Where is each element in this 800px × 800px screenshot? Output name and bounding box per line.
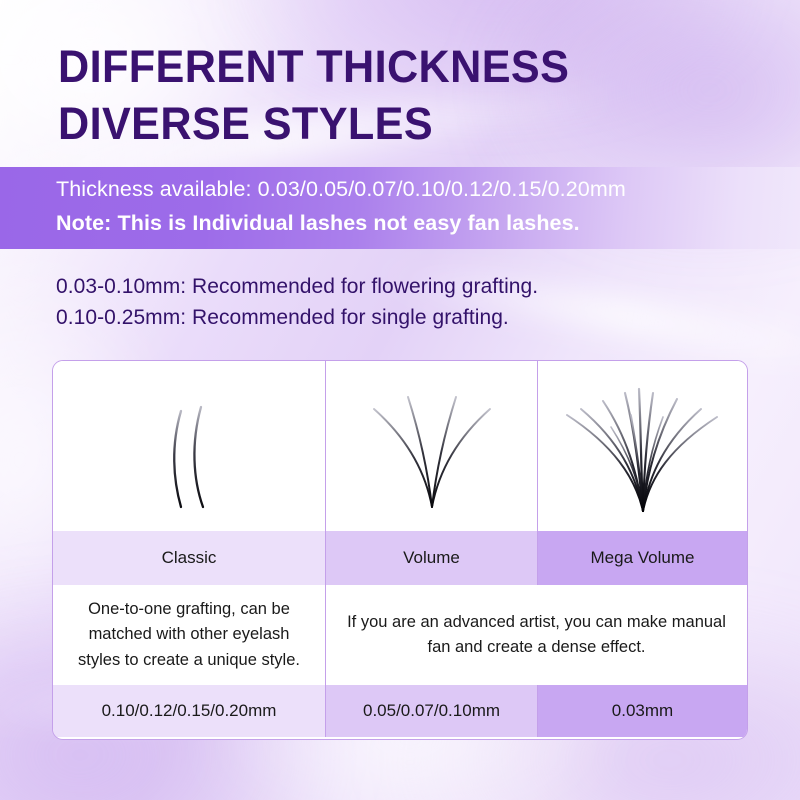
label-cell-classic: Classic [53, 531, 326, 585]
table-row-descriptions: One-to-one grafting, can be matched with… [53, 585, 747, 685]
thickness-classic: 0.10/0.12/0.15/0.20mm [102, 701, 277, 721]
label-mega-volume: Mega Volume [591, 548, 695, 568]
recommendation-single-grafting: 0.10-0.25mm: Recommended for single graf… [56, 306, 538, 330]
table-row-thickness: 0.10/0.12/0.15/0.20mm 0.05/0.07/0.10mm 0… [53, 685, 747, 737]
thickness-mega-volume: 0.03mm [612, 701, 673, 721]
table-row-labels: Classic Volume Mega Volume [53, 531, 747, 585]
mega-volume-fan-illustration [553, 371, 733, 521]
infographic-page: DIFFERENT THICKNESS DIVERSE STYLES Thick… [0, 0, 800, 800]
recommendation-flowering-grafting: 0.03-0.10mm: Recommended for flowering g… [56, 275, 538, 299]
title-line-2: DIVERSE STYLES [58, 101, 569, 146]
volume-fan-illustration [352, 371, 512, 521]
table-row-illustrations [53, 361, 747, 531]
thickness-cell-mega-volume: 0.03mm [538, 685, 747, 737]
banner-note-text: Note: This is Individual lashes not easy… [56, 211, 580, 236]
thickness-banner: Thickness available: 0.03/0.05/0.07/0.10… [0, 167, 800, 249]
recommendation-list: 0.03-0.10mm: Recommended for flowering g… [56, 275, 538, 337]
label-classic: Classic [162, 548, 217, 568]
mega-volume-illustration-cell [538, 361, 747, 531]
thickness-cell-volume: 0.05/0.07/0.10mm [326, 685, 538, 737]
thickness-volume: 0.05/0.07/0.10mm [363, 701, 500, 721]
description-cell-classic: One-to-one grafting, can be matched with… [53, 585, 326, 685]
description-cell-volume-mega: If you are an advanced artist, you can m… [326, 585, 747, 685]
description-classic: One-to-one grafting, can be matched with… [69, 597, 309, 672]
classic-illustration-cell [53, 361, 326, 531]
thickness-available-text: Thickness available: 0.03/0.05/0.07/0.10… [56, 177, 626, 202]
label-cell-volume: Volume [326, 531, 538, 585]
lash-styles-table: Classic Volume Mega Volume One-to-one gr… [52, 360, 748, 740]
label-volume: Volume [403, 548, 460, 568]
label-cell-mega-volume: Mega Volume [538, 531, 747, 585]
title-line-1: DIFFERENT THICKNESS [58, 44, 569, 89]
volume-illustration-cell [326, 361, 538, 531]
classic-lash-illustration [119, 371, 259, 521]
page-title: DIFFERENT THICKNESS DIVERSE STYLES [58, 44, 591, 146]
description-volume-mega: If you are an advanced artist, you can m… [342, 610, 731, 660]
thickness-cell-classic: 0.10/0.12/0.15/0.20mm [53, 685, 326, 737]
